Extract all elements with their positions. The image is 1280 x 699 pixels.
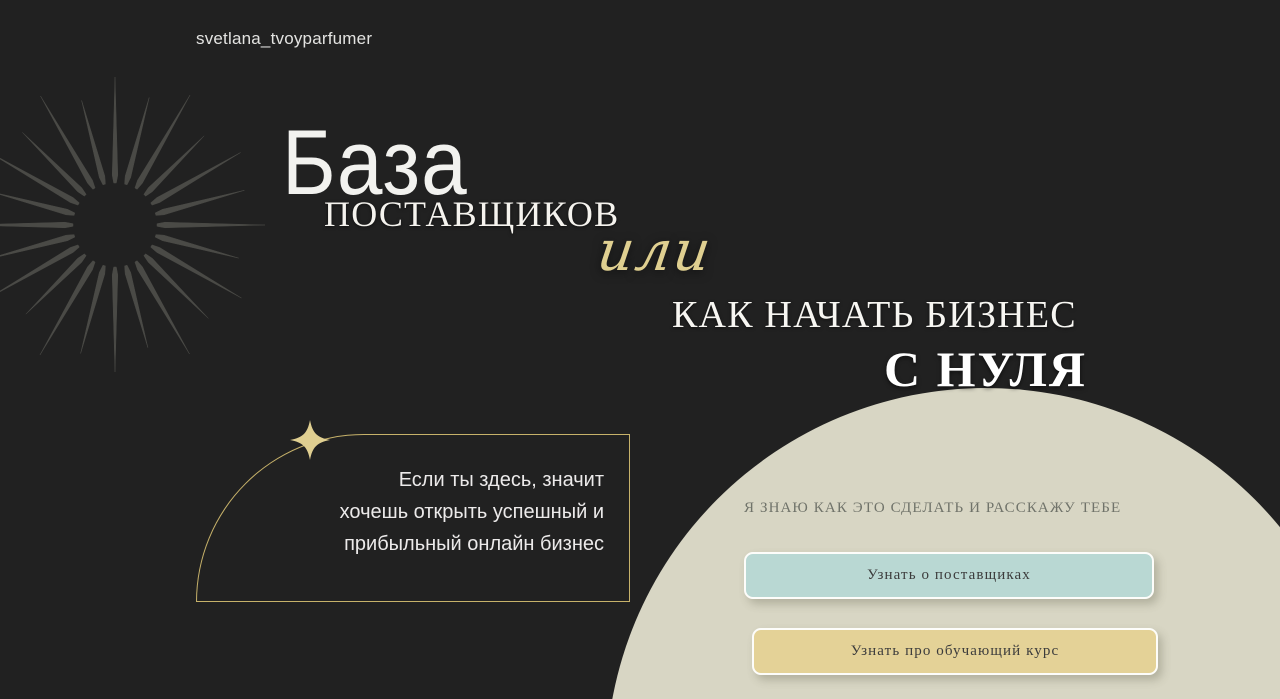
cta-button-suppliers[interactable]: Узнать о поставщиках: [744, 552, 1154, 599]
quote-text: Если ты здесь, значит хочешь открыть усп…: [196, 464, 620, 560]
heading-line-s-nulya: С НУЛЯ: [884, 342, 1087, 396]
heading-line-postavshikov: ПОСТАВЩИКОВ: [324, 194, 619, 234]
cta-button-course[interactable]: Узнать про обучающий курс: [752, 628, 1158, 675]
hero-heading: База ПОСТАВЩИКОВ или КАК НАЧАТЬ БИЗНЕС С…: [0, 0, 1280, 400]
heading-line-kak-nachat-biznes: КАК НАЧАТЬ БИЗНЕС: [672, 294, 1077, 336]
quote-line-1: Если ты здесь, значит: [196, 464, 604, 496]
hero-page: svetlana_tvoyparfumer База ПОСТАВЩИКОВ и…: [0, 0, 1280, 699]
quote-line-3: прибыльный онлайн бизнес: [196, 528, 604, 560]
heading-script-ili: или: [594, 222, 716, 282]
cta-tagline: Я ЗНАЮ КАК ЭТО СДЕЛАТЬ И РАССКАЖУ ТЕБЕ: [744, 498, 1121, 518]
quote-line-2: хочешь открыть успешный и: [196, 496, 604, 528]
